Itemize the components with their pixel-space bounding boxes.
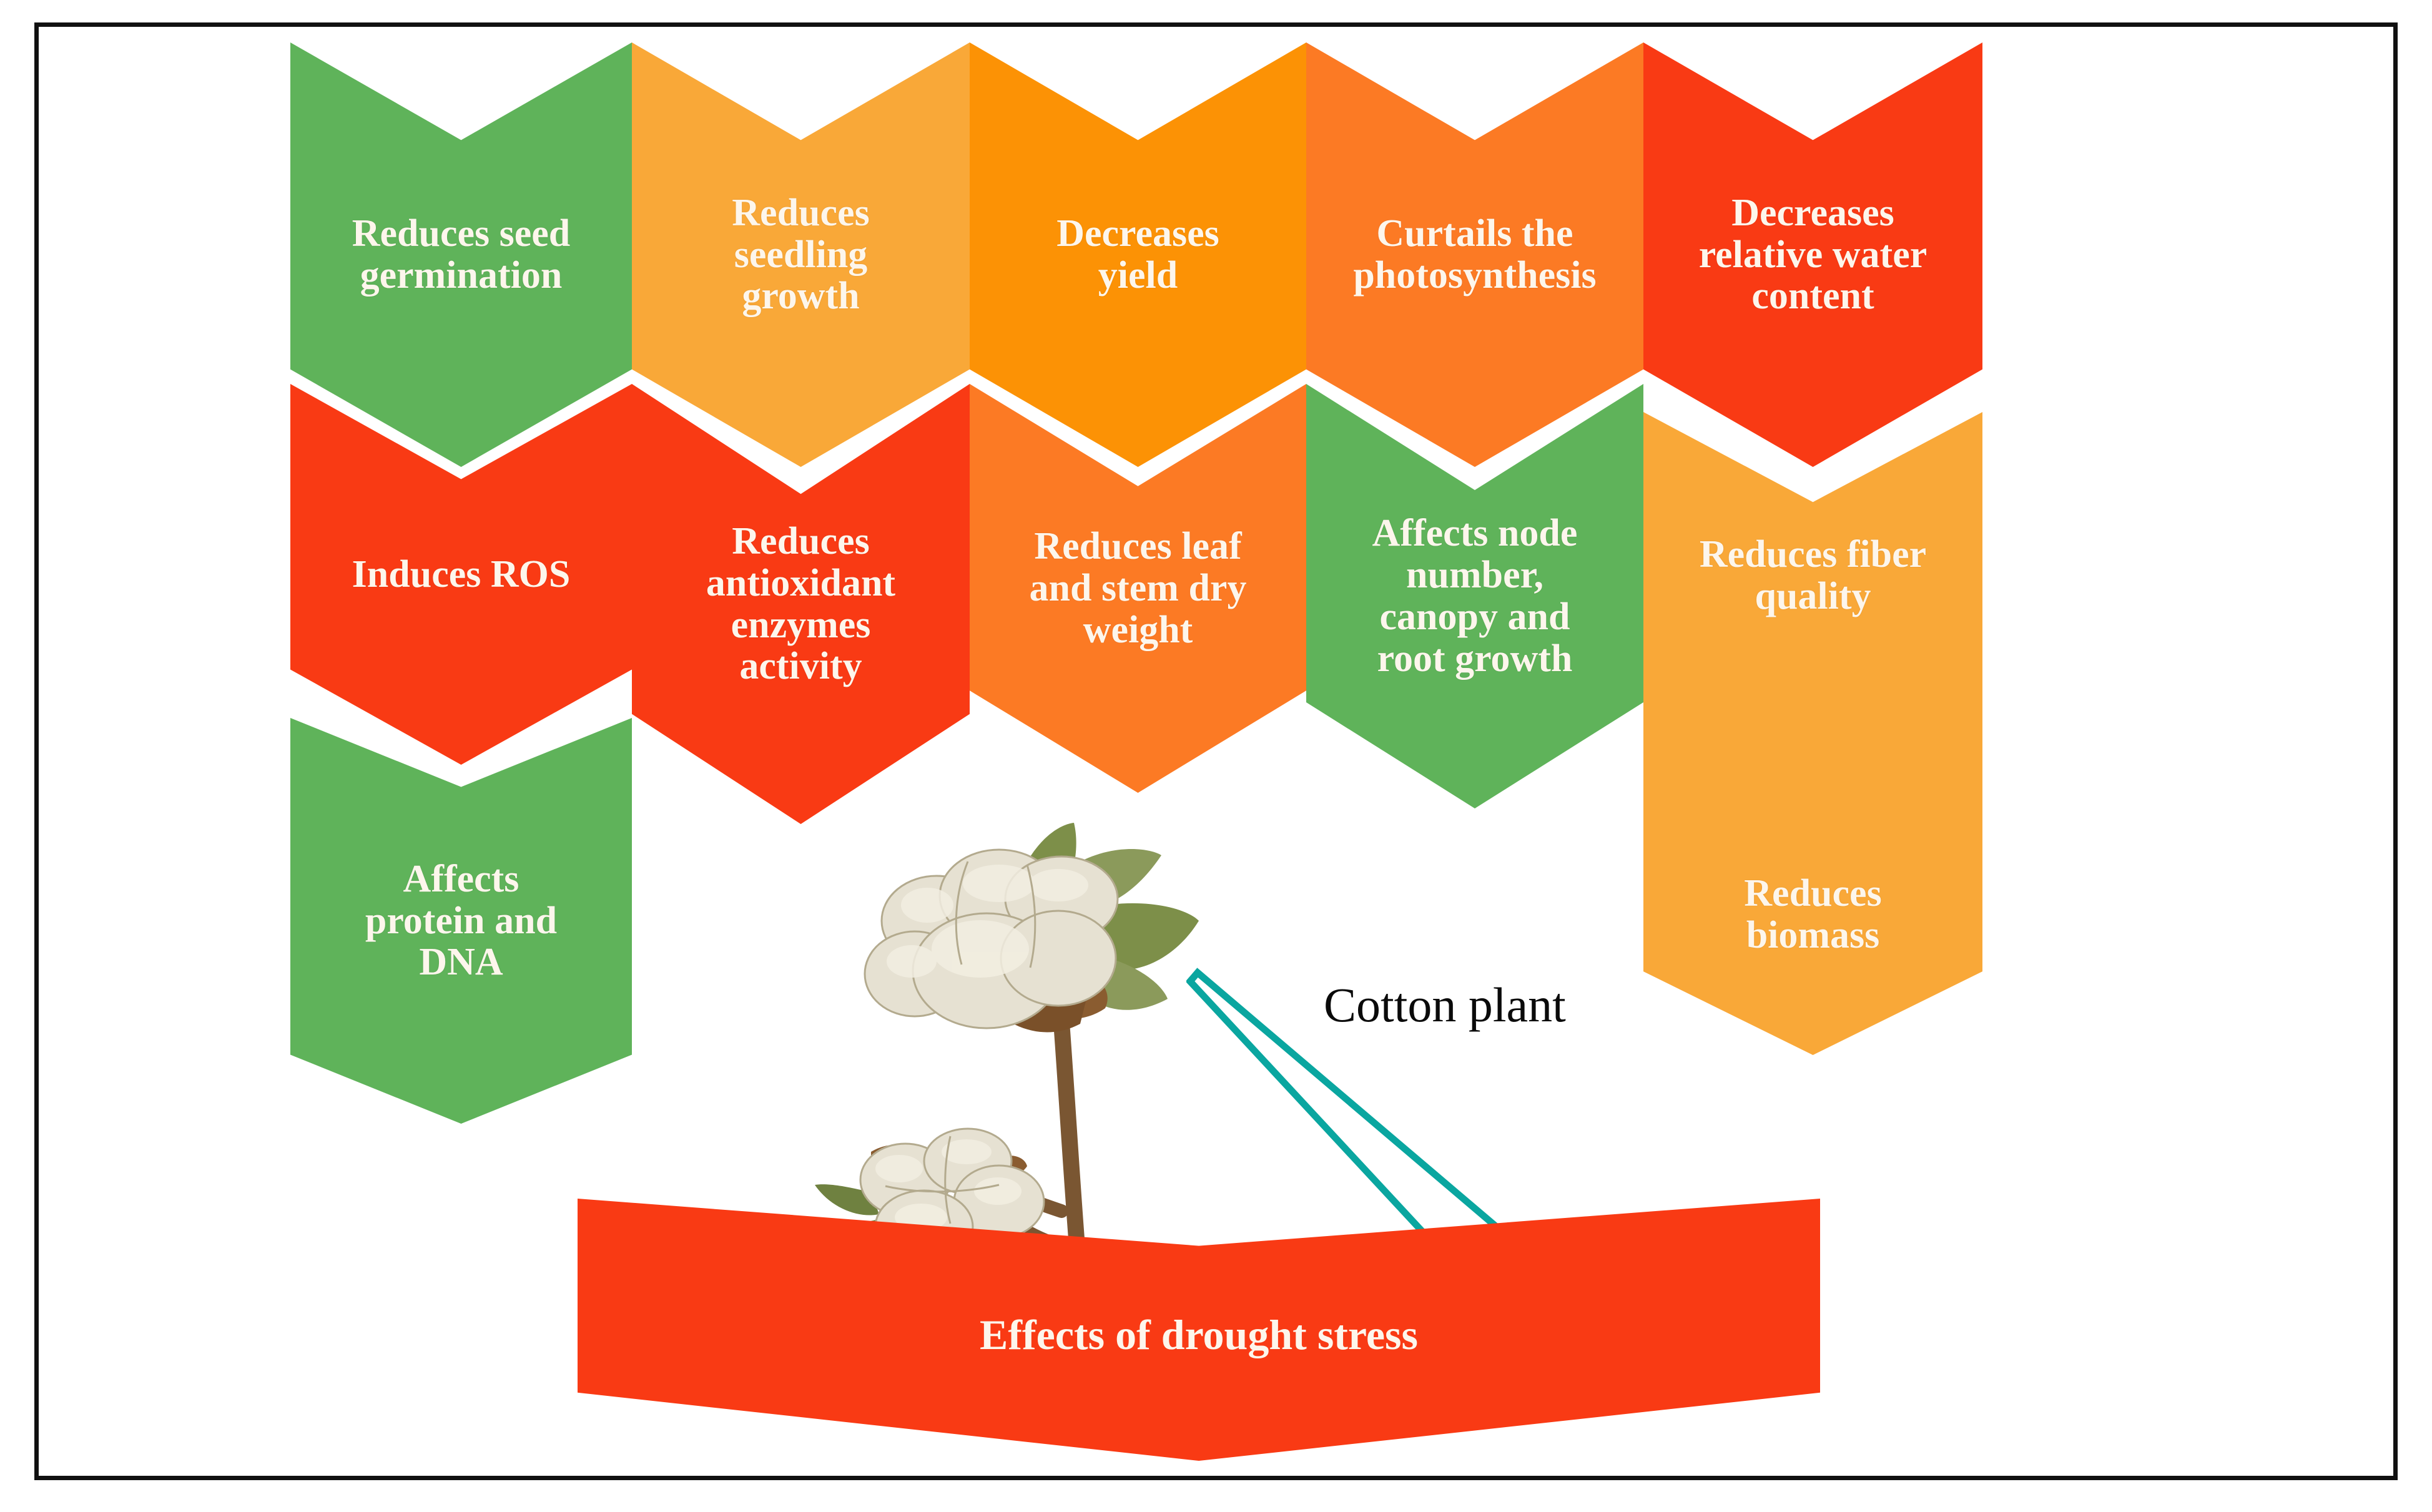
cotton-plant-label: Cotton plant [1324, 977, 1566, 1033]
chevron-label: Reduces leaf and stem dry weight [981, 526, 1296, 651]
bottom-banner-label: Effects of drought stress [980, 1310, 1418, 1360]
chevron-row3-col5-label: Reduces biomass [1643, 846, 1982, 983]
chevron-label: Decreases yield [981, 213, 1296, 297]
chevron-label: Reduces seedling growth [643, 192, 959, 318]
chevron-label: Reduces biomass [1655, 873, 1972, 956]
chevron-label: Affects node number, canopy and root gro… [1317, 513, 1633, 680]
chevron-label: Reduces antioxidant enzymes activity [643, 521, 959, 688]
cotton-plant-label-text: Cotton plant [1324, 978, 1566, 1032]
figure-canvas: Reduces seed germination Reduces seedlin… [0, 0, 2432, 1512]
chevron-label: Affects protein and DNA [302, 858, 621, 984]
chevron-label: Reduces seed germination [302, 213, 621, 297]
chevron-label: Curtails the photosynthesis [1317, 213, 1633, 297]
chevron-label: Decreases relative water content [1655, 192, 1972, 318]
chevron-label: Induces ROS [302, 554, 621, 596]
chevron-label: Reduces fiber quality [1655, 534, 1972, 617]
